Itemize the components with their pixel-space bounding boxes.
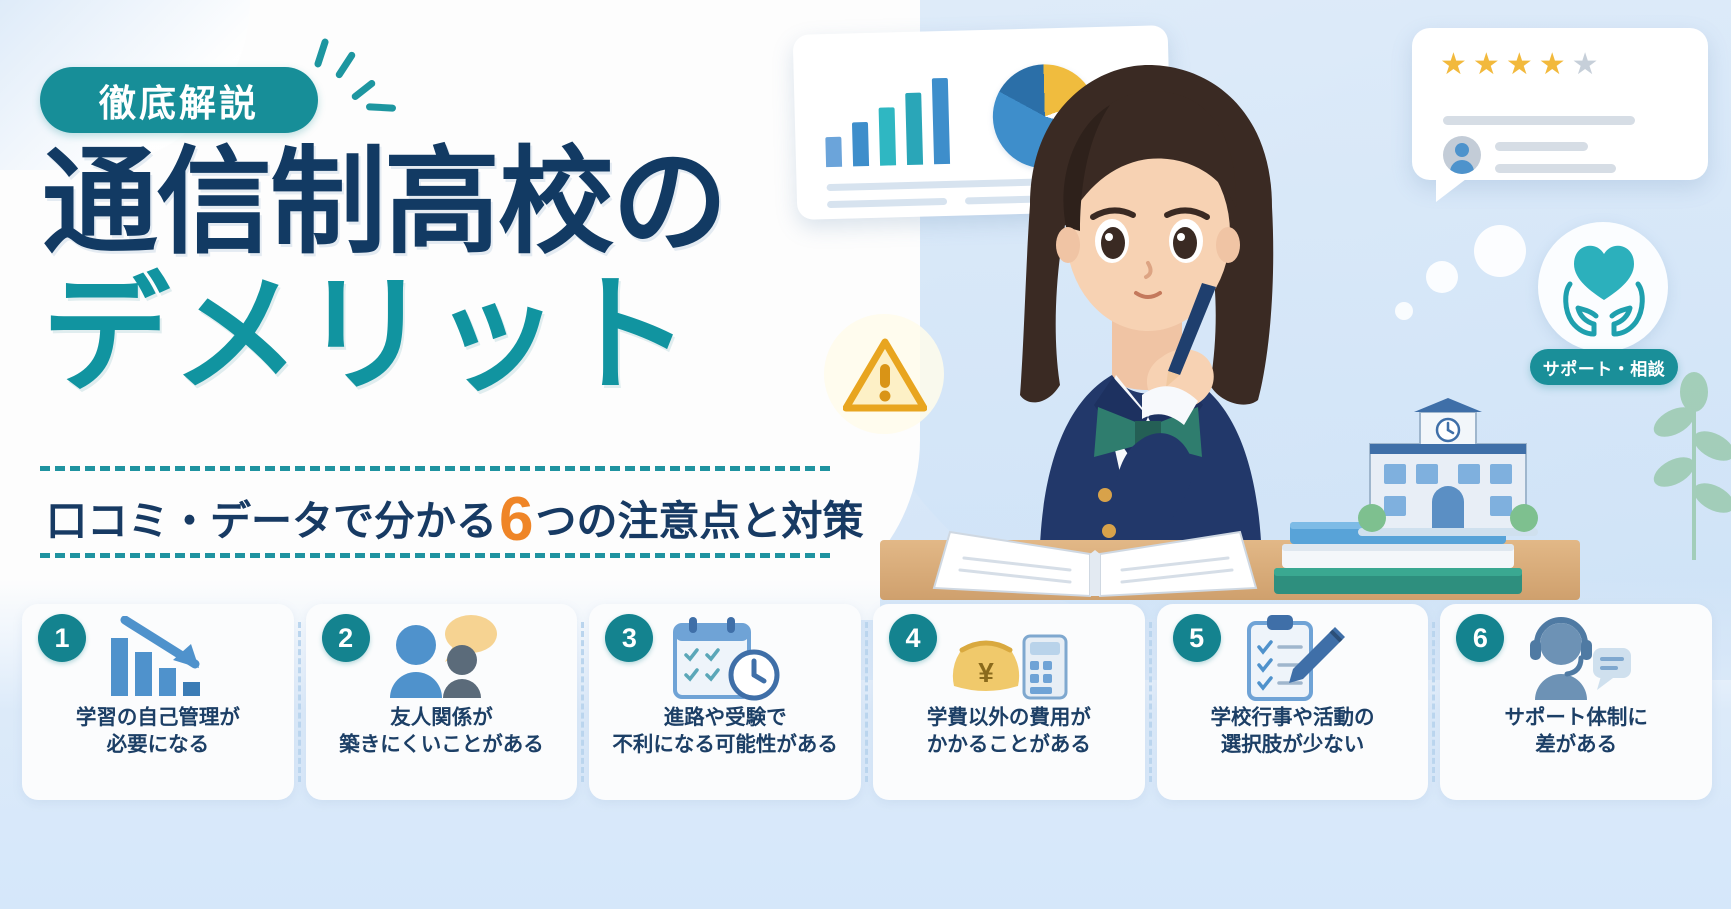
card-separator bbox=[298, 622, 301, 782]
card-label: 学校行事や活動の 選択肢が少ない bbox=[1203, 704, 1383, 758]
explainer-badge-label: 徹底解説 bbox=[99, 73, 259, 127]
star-icon: ★ bbox=[1539, 50, 1566, 80]
subtitle-prefix: 口コミ・データで分かる bbox=[46, 487, 497, 547]
sparkle-icon bbox=[366, 103, 396, 112]
demerit-card-1[interactable]: 1 学習の自己管理が 必要になる bbox=[22, 604, 294, 800]
open-book-icon bbox=[930, 510, 1260, 600]
star-rating: ★ ★ ★ ★ ★ bbox=[1440, 50, 1599, 80]
card-separator bbox=[865, 622, 868, 782]
card-label: 学習の自己管理が 必要になる bbox=[68, 704, 248, 758]
card-separator bbox=[1149, 622, 1152, 782]
card-label-line: 学校行事や活動の bbox=[1211, 704, 1375, 731]
demerit-card-2[interactable]: 2 友人関係が 築きにくいことがある bbox=[306, 604, 578, 800]
page-subtitle: 口コミ・データで分かる 6 つの注意点と対策 bbox=[46, 487, 863, 547]
card-separator bbox=[1432, 622, 1435, 782]
page-title-line2: デメリット bbox=[42, 272, 692, 400]
star-icon: ★ bbox=[1440, 50, 1467, 80]
card-label-line: 学習の自己管理が bbox=[76, 704, 240, 731]
divider-top bbox=[40, 466, 830, 471]
card-number-badge: 5 bbox=[1173, 614, 1221, 662]
card-label: 進路や受験で 不利になる可能性がある bbox=[604, 704, 846, 758]
review-speech-bubble: ★ ★ ★ ★ ★ bbox=[1412, 28, 1708, 180]
card-label-line: サポート体制に bbox=[1504, 704, 1648, 731]
subtitle-count: 6 bbox=[497, 489, 535, 551]
hands-holding-heart-icon bbox=[1560, 238, 1648, 338]
card-label-line: 不利になる可能性がある bbox=[612, 731, 838, 758]
divider-bottom bbox=[40, 553, 830, 558]
warning-triangle-icon bbox=[843, 338, 927, 412]
demerit-card-3[interactable]: 3 bbox=[589, 604, 861, 800]
explainer-badge[interactable]: 徹底解説 bbox=[40, 67, 318, 133]
card-number-badge: 3 bbox=[605, 614, 653, 662]
card-number-badge: 4 bbox=[889, 614, 937, 662]
bubble-decorations bbox=[1370, 215, 1540, 345]
card-label: サポート体制に 差がある bbox=[1496, 704, 1656, 758]
demerit-card-6[interactable]: 6 サポート体制に bbox=[1440, 604, 1712, 800]
card-label-line: かかることがある bbox=[927, 731, 1091, 758]
card-label-line: 必要になる bbox=[76, 731, 240, 758]
card-number-badge: 1 bbox=[38, 614, 86, 662]
review-text-line bbox=[1495, 164, 1616, 173]
card-separator bbox=[581, 622, 584, 782]
avatar bbox=[1443, 136, 1481, 174]
demerit-card-list: 1 学習の自己管理が 必要になる 2 bbox=[22, 604, 1712, 800]
star-icon: ★ bbox=[1473, 50, 1500, 80]
card-number-badge: 2 bbox=[322, 614, 370, 662]
leaf-decoration-icon bbox=[1648, 370, 1731, 560]
card-label-line: 進路や受験で bbox=[612, 704, 838, 731]
star-icon-empty: ★ bbox=[1572, 50, 1599, 80]
subtitle-suffix: つの注意点と対策 bbox=[535, 487, 863, 547]
review-text-line bbox=[1495, 142, 1588, 151]
svg-text:¥: ¥ bbox=[978, 657, 994, 688]
star-icon: ★ bbox=[1506, 50, 1533, 80]
review-text-line bbox=[1443, 116, 1635, 125]
card-label: 学費以外の費用が かかることがある bbox=[919, 704, 1099, 758]
bubble-tail bbox=[1436, 176, 1470, 202]
school-building-icon bbox=[1348, 398, 1548, 553]
page-title-line1: 通信制高校の bbox=[42, 144, 726, 260]
card-label-line: 選択肢が少ない bbox=[1211, 731, 1375, 758]
hero-banner: ★ ★ ★ ★ ★ bbox=[0, 0, 1731, 909]
card-label-line: 友人関係が bbox=[339, 704, 544, 731]
card-label: 友人関係が 築きにくいことがある bbox=[331, 704, 552, 758]
card-label-line: 学費以外の費用が bbox=[927, 704, 1091, 731]
demerit-card-4[interactable]: 4 ¥ 学費以外の費用が bbox=[873, 604, 1145, 800]
card-label-line: 差がある bbox=[1504, 731, 1648, 758]
card-label-line: 築きにくいことがある bbox=[339, 731, 544, 758]
demerit-card-5[interactable]: 5 bbox=[1157, 604, 1429, 800]
support-badge-label: サポート・相談 bbox=[1543, 355, 1666, 380]
